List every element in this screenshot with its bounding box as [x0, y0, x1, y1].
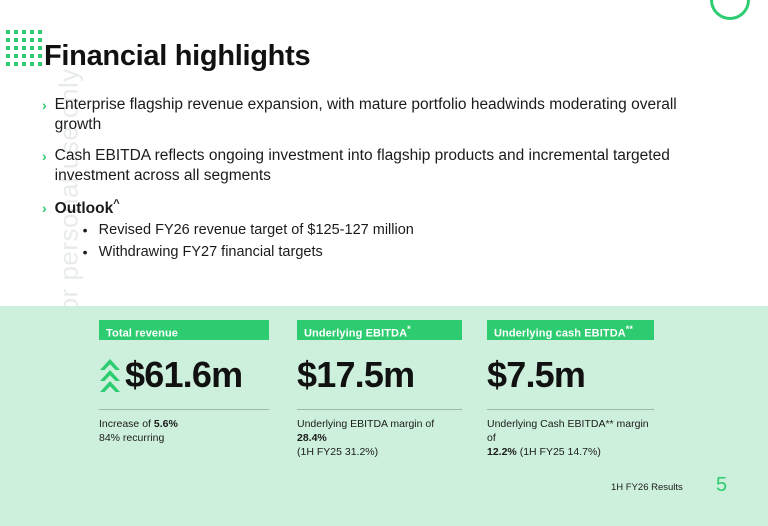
- kpi-note-line2: 84% recurring: [99, 432, 164, 444]
- kpi-note-highlight: 5.6%: [154, 418, 178, 430]
- kpi-note: Underlying EBITDA margin of 28.4% (1H FY…: [297, 417, 462, 460]
- chevron-right-icon: ›: [42, 148, 47, 166]
- bullet-dot-icon: •: [83, 222, 99, 240]
- kpi-value-row: $17.5m: [297, 352, 462, 397]
- kpi-badge: Total revenue: [99, 320, 269, 340]
- kpi-value-row: $61.6m: [99, 352, 269, 397]
- kpi-badge: Underlying EBITDA*: [297, 320, 462, 340]
- double-chevron-up-icon: [99, 358, 121, 392]
- kpi-note-prefix: Underlying Cash EBITDA** margin of: [487, 418, 649, 444]
- kpi-value-row: $7.5m: [487, 352, 654, 397]
- page-number: 5: [716, 474, 727, 497]
- kpi-card-total-revenue: Total revenue $61.6m Increase of 5.6% 84…: [99, 320, 269, 445]
- chevron-right-icon: ›: [42, 97, 47, 115]
- sub-bullet-item: • Withdrawing FY27 financial targets: [83, 244, 414, 262]
- sub-bullet-list: • Revised FY26 revenue target of $125-12…: [83, 222, 414, 262]
- kpi-note: Underlying Cash EBITDA** margin of 12.2%…: [487, 417, 654, 460]
- circle-outline-decoration-icon: [710, 0, 750, 20]
- kpi-note-highlight: 12.2%: [487, 446, 517, 458]
- kpi-badge-label: Underlying cash EBITDA: [494, 328, 626, 340]
- bullet-text: Cash EBITDA reflects ongoing investment …: [55, 146, 700, 185]
- kpi-divider: [297, 409, 462, 410]
- kpi-badge-superscript: **: [626, 324, 633, 334]
- kpi-card-underlying-ebitda: Underlying EBITDA* $17.5m Underlying EBI…: [297, 320, 462, 460]
- footer-label: 1H FY26 Results: [611, 482, 683, 493]
- page-title: Financial highlights: [44, 40, 310, 73]
- bullet-text: Enterprise flagship revenue expansion, w…: [55, 95, 700, 134]
- bullet-dot-icon: •: [83, 244, 99, 262]
- kpi-note-highlight: 28.4%: [297, 432, 327, 444]
- kpi-badge-label: Underlying EBITDA: [304, 328, 407, 340]
- metrics-panel: Total revenue $61.6m Increase of 5.6% 84…: [0, 306, 768, 526]
- kpi-card-underlying-cash-ebitda: Underlying cash EBITDA** $7.5m Underlyin…: [487, 320, 654, 460]
- bullet-list: › Enterprise flagship revenue expansion,…: [42, 95, 732, 279]
- kpi-note-prefix: Increase of: [99, 418, 154, 430]
- sub-bullet-text: Revised FY26 revenue target of $125-127 …: [99, 222, 414, 238]
- kpi-note: Increase of 5.6% 84% recurring: [99, 417, 269, 445]
- outlook-label: Outlook: [55, 200, 114, 217]
- bullet-item: › Cash EBITDA reflects ongoing investmen…: [42, 146, 732, 185]
- kpi-value: $61.6m: [125, 357, 242, 393]
- kpi-badge-label: Total revenue: [106, 328, 178, 340]
- kpi-note-line2: (1H FY25 14.7%): [517, 446, 601, 458]
- kpi-badge-superscript: *: [407, 324, 411, 334]
- bullet-item-outlook: › Outlook^ • Revised FY26 revenue target…: [42, 198, 732, 267]
- slide-root: For personal use only Financial highligh…: [0, 0, 768, 526]
- kpi-divider: [99, 409, 269, 410]
- bullet-text-outlook: Outlook^: [55, 198, 414, 219]
- outlook-superscript: ^: [113, 198, 119, 210]
- kpi-value: $7.5m: [487, 357, 585, 393]
- kpi-note-line2: (1H FY25 31.2%): [297, 446, 378, 458]
- bullet-item: › Enterprise flagship revenue expansion,…: [42, 95, 732, 134]
- kpi-note-prefix: Underlying EBITDA margin of: [297, 418, 434, 430]
- sub-bullet-text: Withdrawing FY27 financial targets: [99, 244, 323, 260]
- chevron-right-icon: ›: [42, 200, 47, 218]
- kpi-divider: [487, 409, 654, 410]
- sub-bullet-item: • Revised FY26 revenue target of $125-12…: [83, 222, 414, 240]
- kpi-value: $17.5m: [297, 357, 414, 393]
- dot-grid-decoration-icon: [6, 30, 46, 70]
- kpi-badge: Underlying cash EBITDA**: [487, 320, 654, 340]
